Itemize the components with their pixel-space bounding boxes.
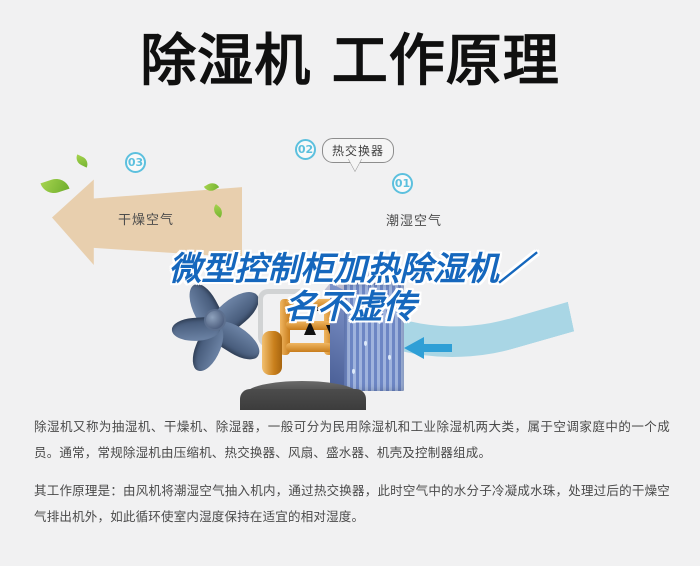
flow-arrow-right-icon — [308, 303, 322, 315]
dehumidifier-diagram: 干燥空气 — [0, 125, 700, 410]
callout-badge-03: 03 — [125, 152, 146, 173]
body-paragraph-2: 其工作原理是：由风机将潮湿空气抽入机内，通过热交换器，此时空气中的水分子冷凝成水… — [34, 478, 670, 530]
body-paragraph-1: 除湿机又称为抽湿机、干燥机、除湿器，一般可分为民用除湿机和工业除湿机两大类，属于… — [34, 414, 670, 466]
flow-arrow-up-icon — [304, 321, 316, 335]
humid-air-label: 潮湿空气 — [386, 210, 442, 229]
poster-root: 除湿机 工作原理 干燥空气 — [0, 0, 700, 566]
callout-bubble-tail — [348, 158, 362, 171]
callout-badge-01: 01 — [392, 173, 413, 194]
heat-exchanger-illustration — [330, 283, 408, 395]
air-inlet-arrow-icon — [404, 337, 424, 359]
air-inlet-arrow-tail — [422, 344, 452, 352]
page-title: 除湿机 工作原理 — [0, 30, 700, 94]
leaf-icon — [40, 175, 69, 196]
body-copy: 除湿机又称为抽湿机、干燥机、除湿器，一般可分为民用除湿机和工业除湿机两大类，属于… — [34, 414, 670, 542]
dry-air-label: 干燥空气 — [118, 209, 174, 228]
machine-base — [240, 389, 366, 410]
callout-badge-02: 02 — [295, 139, 316, 160]
page-title-text: 除湿机 工作原理 — [0, 30, 700, 94]
leaf-icon — [74, 154, 90, 167]
